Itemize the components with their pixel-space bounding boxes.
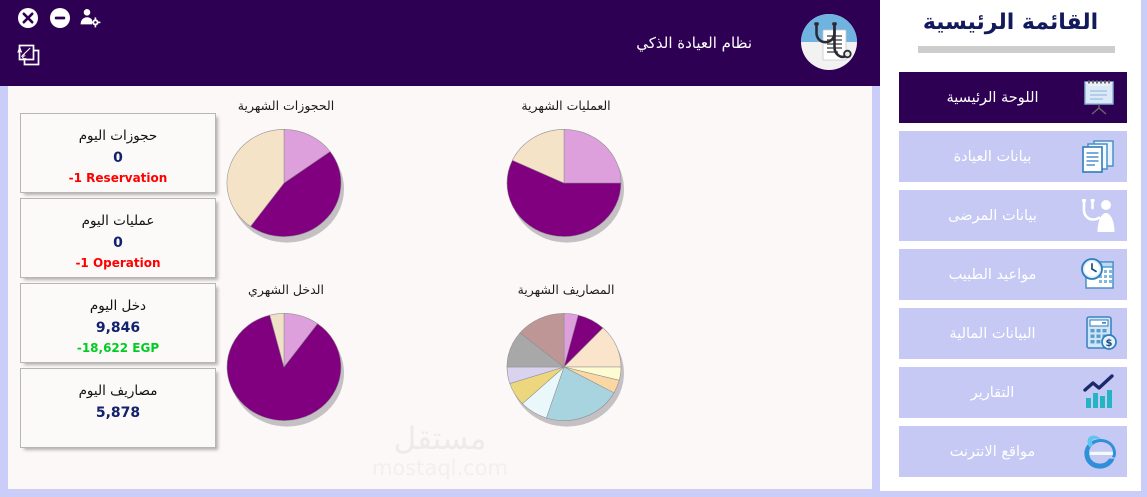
translate-button[interactable]: A ع: [17, 43, 41, 67]
sidebar-item-label: مواقع الانترنت: [899, 444, 1072, 460]
sidebar-item-reports[interactable]: التقارير: [899, 367, 1127, 418]
chart-monthly-expenses: المصاريف الشهرية: [446, 282, 686, 467]
calculator-dollar-icon: $: [1076, 314, 1122, 354]
sidebar-item-clinic-data[interactable]: بيانات العيادة: [899, 131, 1127, 182]
dashboard-content: مستقل mostaql.com حجوزات اليوم 0 -1 Rese…: [8, 86, 872, 489]
sidebar-title: القائمة الرئيسية: [880, 10, 1141, 35]
sidebar-item-label: مواعيد الطبيب: [899, 267, 1072, 283]
pie-slice[interactable]: [564, 129, 621, 183]
stethoscope-document-icon: [800, 13, 858, 71]
close-button[interactable]: [17, 7, 39, 29]
sidebar-item-internet-sites[interactable]: مواقع الانترنت: [899, 426, 1127, 477]
sidebar-item-patients-data[interactable]: بيانات المرضى: [899, 190, 1127, 241]
sidebar-item-label: بيانات المرضى: [899, 208, 1072, 224]
sidebar-item-dashboard[interactable]: اللوحة الرئيسية: [899, 72, 1127, 123]
sidebar: القائمة الرئيسية: [880, 0, 1147, 497]
sidebar-item-financial-data[interactable]: $ البيانات المالية: [899, 308, 1127, 359]
documents-icon: [1076, 137, 1122, 177]
pie-canvas-reservations[interactable]: [220, 121, 352, 253]
window-title-bar: A ع نظام العيادة الذكي: [0, 0, 880, 86]
main-window: A ع نظام العيادة الذكي: [0, 0, 880, 497]
sidebar-item-label: اللوحة الرئيسية: [899, 90, 1072, 106]
chart-monthly-reservations: الحجوزات الشهرية: [166, 98, 406, 283]
page-title: نظام العيادة الذكي: [636, 34, 752, 52]
chart-title: العمليات الشهرية: [446, 98, 686, 113]
pie-canvas-expenses[interactable]: [500, 305, 632, 437]
pie-canvas-operations[interactable]: [500, 121, 632, 253]
pie-canvas-income[interactable]: [220, 305, 352, 437]
chart-title: المصاريف الشهرية: [446, 282, 686, 297]
chart-monthly-income: الدخل الشهري: [166, 282, 406, 467]
stethoscope-patient-icon: [1076, 196, 1122, 236]
chart-title: الحجوزات الشهرية: [166, 98, 406, 113]
sidebar-item-label: التقارير: [899, 385, 1072, 401]
sidebar-item-doctor-appointments[interactable]: مواعيد الطبيب: [899, 249, 1127, 300]
svg-text:$: $: [1106, 338, 1113, 349]
chart-monthly-operations: العمليات الشهرية: [446, 98, 686, 283]
application-window: A ع نظام العيادة الذكي: [0, 0, 1147, 497]
sidebar-item-label: بيانات العيادة: [899, 149, 1072, 165]
bar-chart-trend-icon: [1076, 373, 1122, 413]
sidebar-menu: اللوحة الرئيسية بيانات العيادة: [899, 72, 1127, 485]
chart-title: الدخل الشهري: [166, 282, 406, 297]
calendar-clock-icon: [1076, 255, 1122, 295]
sidebar-item-label: البيانات المالية: [899, 326, 1072, 342]
user-settings-button[interactable]: [80, 6, 102, 28]
presentation-board-icon: [1076, 78, 1122, 118]
internet-explorer-icon: [1076, 432, 1122, 472]
sidebar-panel: القائمة الرئيسية: [880, 0, 1141, 491]
sidebar-divider: [918, 46, 1115, 53]
minimize-button[interactable]: [49, 7, 71, 29]
